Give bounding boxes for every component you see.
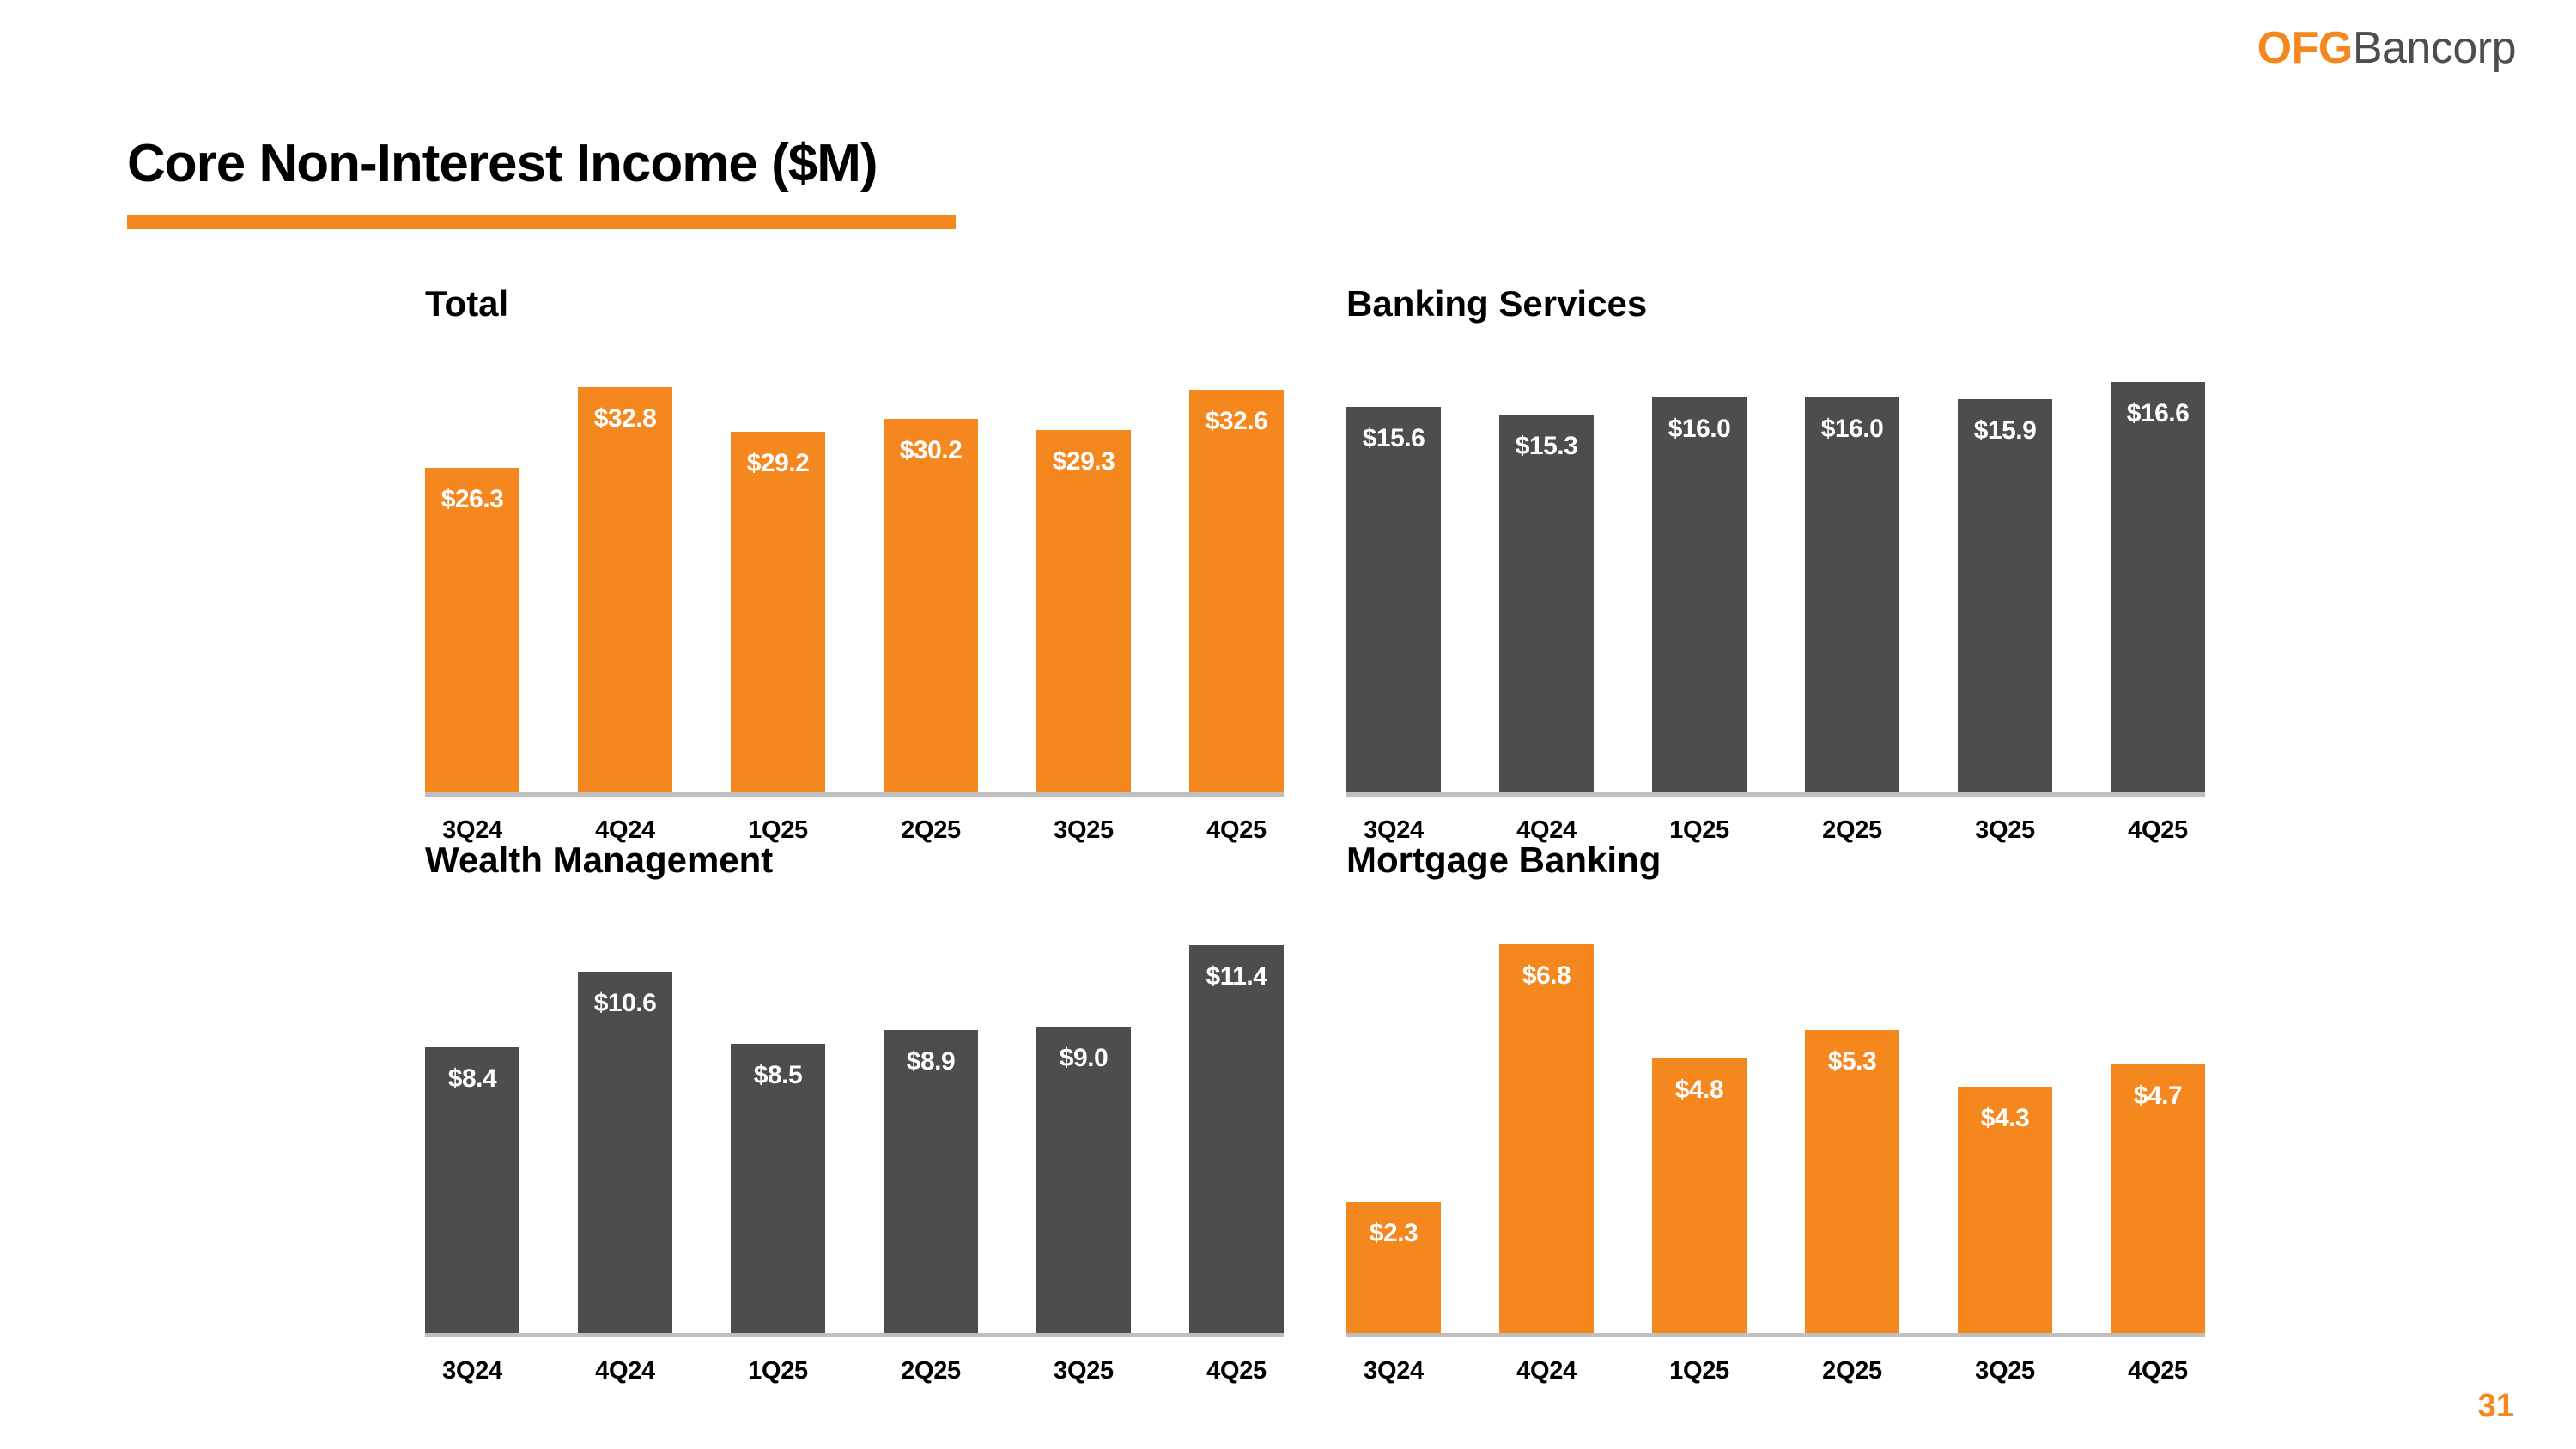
bar-slot: $4.3	[1958, 904, 2052, 1333]
bar-slot: $8.9	[884, 904, 978, 1333]
bar-slot: $29.2	[731, 348, 825, 792]
x-axis-tick-label: 3Q25	[1036, 1357, 1131, 1385]
x-axis-tick-label: 1Q25	[731, 1357, 825, 1385]
logo-bancorp-text: Bancorp	[2353, 23, 2516, 73]
chart-panel-mortgage-banking: Mortgage Banking$2.3$6.8$4.8$5.3$4.3$4.7…	[1346, 840, 2205, 1410]
x-axis-line-banking-services	[1346, 792, 2205, 797]
chart-panel-banking-services: Banking Services$15.6$15.3$16.0$16.0$15.…	[1346, 283, 2205, 870]
x-axis-tick-label: 2Q25	[884, 1357, 978, 1385]
x-axis-line-total	[425, 792, 1284, 797]
bar-value-label: $4.7	[2134, 1064, 2182, 1111]
bar-mortgage-banking-3Q25[interactable]: $4.3	[1958, 1087, 2052, 1333]
bar-group-total: $26.3$32.8$29.2$30.2$29.3$32.6	[425, 348, 1284, 792]
x-axis-tick-label: 4Q24	[1499, 1357, 1594, 1385]
plot-area-banking-services: $15.6$15.3$16.0$16.0$15.9$16.6	[1346, 348, 2205, 792]
bar-slot: $15.6	[1346, 348, 1441, 792]
bar-slot: $16.6	[2111, 348, 2205, 792]
bar-value-label: $15.9	[1974, 399, 2037, 446]
bar-slot: $11.4	[1189, 904, 1284, 1333]
bar-slot: $10.6	[578, 904, 672, 1333]
bar-value-label: $10.6	[594, 972, 657, 1018]
bar-banking-services-4Q24[interactable]: $15.3	[1499, 415, 1594, 792]
bar-value-label: $4.8	[1675, 1058, 1723, 1105]
bar-mortgage-banking-1Q25[interactable]: $4.8	[1652, 1058, 1747, 1333]
bar-value-label: $15.6	[1363, 407, 1425, 453]
bar-value-label: $9.0	[1060, 1027, 1108, 1073]
chart-panel-wealth-management: Wealth Management$8.4$10.6$8.5$8.9$9.0$1…	[425, 840, 1284, 1410]
bar-slot: $8.5	[731, 904, 825, 1333]
chart-title-mortgage-banking: Mortgage Banking	[1346, 840, 1661, 881]
bar-value-label: $8.9	[907, 1030, 955, 1076]
bar-wealth-management-2Q25[interactable]: $8.9	[884, 1030, 978, 1333]
chart-title-wealth-management: Wealth Management	[425, 840, 773, 881]
bar-wealth-management-4Q25[interactable]: $11.4	[1189, 945, 1284, 1333]
bar-group-mortgage-banking: $2.3$6.8$4.8$5.3$4.3$4.7	[1346, 904, 2205, 1333]
bar-slot: $15.9	[1958, 348, 2052, 792]
logo-ofg-text: OFG	[2257, 23, 2353, 73]
bar-total-3Q25[interactable]: $29.3	[1036, 430, 1131, 792]
bar-value-label: $29.3	[1053, 430, 1115, 476]
bar-wealth-management-3Q24[interactable]: $8.4	[425, 1047, 519, 1333]
bar-total-2Q25[interactable]: $30.2	[884, 419, 978, 792]
bar-value-label: $32.8	[594, 387, 657, 433]
bar-total-4Q25[interactable]: $32.6	[1189, 390, 1284, 792]
bar-mortgage-banking-2Q25[interactable]: $5.3	[1805, 1030, 1899, 1333]
bar-value-label: $8.4	[448, 1047, 496, 1094]
bar-mortgage-banking-4Q24[interactable]: $6.8	[1499, 944, 1594, 1333]
bar-mortgage-banking-3Q24[interactable]: $2.3	[1346, 1202, 1441, 1333]
bar-slot: $2.3	[1346, 904, 1441, 1333]
bar-slot: $6.8	[1499, 904, 1594, 1333]
x-axis-tick-label: 2Q25	[1805, 1357, 1899, 1385]
x-axis-labels-mortgage-banking: 3Q244Q241Q252Q253Q254Q25	[1346, 1357, 2205, 1385]
bar-value-label: $2.3	[1370, 1202, 1418, 1248]
bar-value-label: $32.6	[1206, 390, 1268, 436]
bar-value-label: $11.4	[1206, 945, 1267, 991]
x-axis-tick-label: 3Q25	[1958, 1357, 2052, 1385]
bar-value-label: $6.8	[1522, 944, 1571, 991]
bar-slot: $4.8	[1652, 904, 1747, 1333]
ofg-bancorp-logo: OFGBancorp	[2257, 26, 2516, 70]
bar-slot: $5.3	[1805, 904, 1899, 1333]
x-axis-tick-label: 3Q24	[425, 1357, 519, 1385]
plot-area-mortgage-banking: $2.3$6.8$4.8$5.3$4.3$4.7	[1346, 904, 2205, 1333]
bar-slot: $26.3	[425, 348, 519, 792]
bar-slot: $9.0	[1036, 904, 1131, 1333]
bar-banking-services-1Q25[interactable]: $16.0	[1652, 397, 1747, 792]
chart-panel-total: Total$26.3$32.8$29.2$30.2$29.3$32.63Q244…	[425, 283, 1284, 870]
bar-banking-services-3Q24[interactable]: $15.6	[1346, 407, 1441, 792]
bar-value-label: $16.6	[2127, 382, 2190, 428]
bar-slot: $32.8	[578, 348, 672, 792]
bar-slot: $32.6	[1189, 348, 1284, 792]
bar-value-label: $26.3	[441, 468, 504, 514]
bar-group-wealth-management: $8.4$10.6$8.5$8.9$9.0$11.4	[425, 904, 1284, 1333]
bar-banking-services-2Q25[interactable]: $16.0	[1805, 397, 1899, 792]
bar-slot: $15.3	[1499, 348, 1594, 792]
slide-canvas: OFGBancorp Core Non-Interest Income ($M)…	[0, 0, 2576, 1449]
bar-value-label: $8.5	[754, 1044, 802, 1090]
x-axis-tick-label: 4Q25	[2111, 1357, 2205, 1385]
x-axis-tick-label: 4Q24	[578, 1357, 672, 1385]
bar-slot: $29.3	[1036, 348, 1131, 792]
bar-banking-services-3Q25[interactable]: $15.9	[1958, 399, 2052, 792]
x-axis-line-wealth-management	[425, 1333, 1284, 1337]
x-axis-line-mortgage-banking	[1346, 1333, 2205, 1337]
bar-slot: $30.2	[884, 348, 978, 792]
page-title: Core Non-Interest Income ($M)	[127, 133, 878, 194]
bar-mortgage-banking-4Q25[interactable]: $4.7	[2111, 1064, 2205, 1333]
bar-slot: $8.4	[425, 904, 519, 1333]
bar-total-4Q24[interactable]: $32.8	[578, 387, 672, 792]
bar-slot: $4.7	[2111, 904, 2205, 1333]
bar-banking-services-4Q25[interactable]: $16.6	[2111, 382, 2205, 792]
bar-total-3Q24[interactable]: $26.3	[425, 468, 519, 792]
x-axis-tick-label: 3Q24	[1346, 1357, 1441, 1385]
plot-area-wealth-management: $8.4$10.6$8.5$8.9$9.0$11.4	[425, 904, 1284, 1333]
bar-group-banking-services: $15.6$15.3$16.0$16.0$15.9$16.6	[1346, 348, 2205, 792]
plot-area-total: $26.3$32.8$29.2$30.2$29.3$32.6	[425, 348, 1284, 792]
bar-value-label: $4.3	[1981, 1087, 2029, 1133]
x-axis-labels-wealth-management: 3Q244Q241Q252Q253Q254Q25	[425, 1357, 1284, 1385]
bar-total-1Q25[interactable]: $29.2	[731, 432, 825, 792]
bar-value-label: $29.2	[747, 432, 810, 478]
bar-value-label: $16.0	[1668, 397, 1731, 444]
chart-title-banking-services: Banking Services	[1346, 283, 1647, 324]
bar-value-label: $16.0	[1821, 397, 1884, 444]
x-axis-tick-label: 1Q25	[1652, 1357, 1747, 1385]
bar-value-label: $15.3	[1516, 415, 1578, 461]
bar-slot: $16.0	[1652, 348, 1747, 792]
bar-wealth-management-3Q25[interactable]: $9.0	[1036, 1027, 1131, 1333]
chart-title-total: Total	[425, 283, 508, 324]
bar-slot: $16.0	[1805, 348, 1899, 792]
x-axis-tick-label: 4Q25	[1189, 1357, 1284, 1385]
bar-wealth-management-4Q24[interactable]: $10.6	[578, 972, 672, 1333]
bar-value-label: $5.3	[1828, 1030, 1876, 1076]
page-number: 31	[2478, 1388, 2514, 1425]
title-underline-rule	[127, 215, 956, 229]
bar-value-label: $30.2	[900, 419, 963, 465]
bar-wealth-management-1Q25[interactable]: $8.5	[731, 1044, 825, 1333]
